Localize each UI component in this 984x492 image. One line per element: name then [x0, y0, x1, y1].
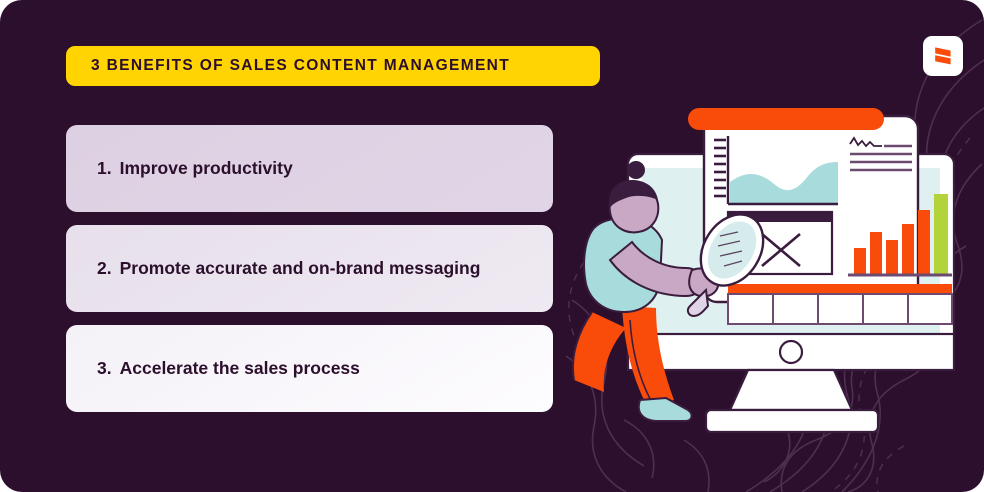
bar-1: [854, 248, 866, 274]
data-table: [728, 284, 952, 324]
table-header-row: [728, 284, 952, 294]
benefit-number-2: 2.: [97, 258, 112, 279]
seismic-logo: [923, 36, 963, 76]
benefit-card-1[interactable]: 1. Improve productivity: [66, 125, 553, 212]
person-shoe: [639, 398, 692, 421]
person-hair-bun: [627, 161, 645, 179]
illustration-person-with-dashboard: [570, 100, 984, 440]
benefit-label-1: Improve productivity: [120, 158, 293, 179]
monitor-power-button: [780, 341, 802, 363]
bar-3: [886, 240, 898, 274]
page-title: 3 BENEFITS OF SALES CONTENT MANAGEMENT: [91, 57, 510, 75]
monitor-stand-neck: [730, 370, 852, 410]
table-cell: [773, 294, 818, 324]
benefit-card-3[interactable]: 3. Accelerate the sales process: [66, 325, 553, 412]
bar-5: [918, 210, 930, 274]
seismic-logo-mark: [932, 45, 954, 67]
benefits-list: 1. Improve productivity 2. Promote accur…: [66, 125, 553, 425]
monitor-stand-base: [706, 410, 878, 432]
table-cell: [728, 294, 773, 324]
table-cell: [863, 294, 908, 324]
benefit-label-3: Accelerate the sales process: [120, 358, 360, 379]
bar-6-highlight: [934, 194, 948, 274]
person-back-leg: [573, 312, 626, 392]
benefit-label-2: Promote accurate and on-brand messaging: [120, 258, 481, 279]
bar-4: [902, 224, 914, 274]
dashboard-panel: [688, 108, 952, 324]
benefit-card-2[interactable]: 2. Promote accurate and on-brand messagi…: [66, 225, 553, 312]
infographic-canvas: 3 BENEFITS OF SALES CONTENT MANAGEMENT 1…: [0, 0, 984, 492]
panel-orange-bar: [688, 108, 884, 130]
benefit-number-1: 1.: [97, 158, 112, 179]
table-cell: [818, 294, 863, 324]
bar-2: [870, 232, 882, 274]
title-banner: 3 BENEFITS OF SALES CONTENT MANAGEMENT: [66, 46, 600, 86]
benefit-number-3: 3.: [97, 358, 112, 379]
table-cell: [908, 294, 952, 324]
